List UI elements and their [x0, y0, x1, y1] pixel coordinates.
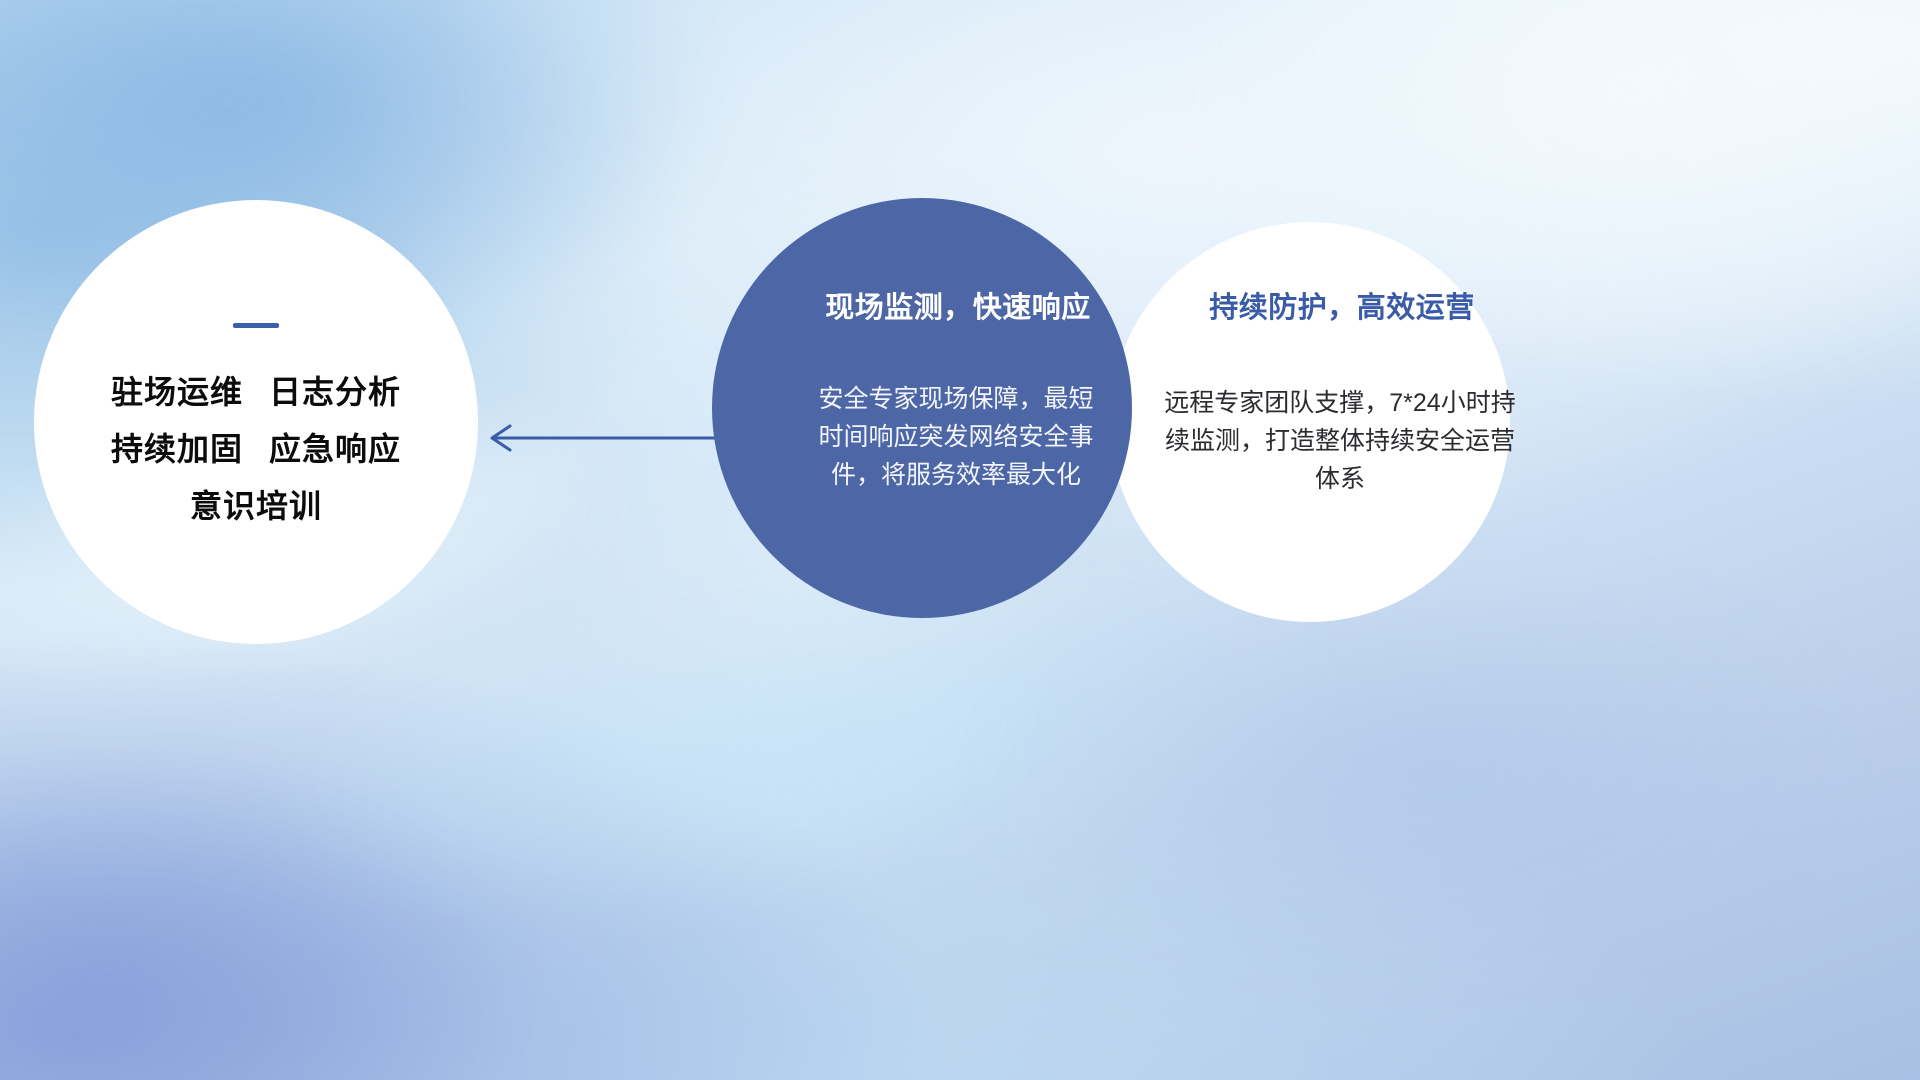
- slide-canvas: 驻场运维日志分析 持续加固应急响应 意识培训 现场监测，快速响应 安全专家现场保…: [0, 0, 1920, 1080]
- capability-label: 驻场运维: [111, 374, 243, 410]
- capability-label: 应急响应: [269, 431, 401, 467]
- capability-label: 日志分析: [269, 374, 401, 410]
- arrow-left-icon: [480, 418, 740, 458]
- right-circle-title: 持续防护，高效运营: [1209, 284, 1475, 326]
- divider-dash: [233, 323, 279, 328]
- left-circle-card[interactable]: 驻场运维日志分析 持续加固应急响应 意识培训: [34, 200, 478, 644]
- capability-label: 意识培训: [190, 488, 322, 524]
- middle-circle-body: 安全专家现场保障，最短时间响应突发网络安全事件，将服务效率最大化: [816, 380, 1096, 494]
- right-circle-body: 远程专家团队支撑，7*24小时持续监测，打造整体持续安全运营体系: [1162, 384, 1518, 498]
- list-item: 持续加固应急响应: [111, 433, 401, 465]
- list-item: 驻场运维日志分析: [111, 376, 401, 408]
- middle-circle-content: 现场监测，快速响应 安全专家现场保障，最短时间响应突发网络安全事件，将服务效率最…: [712, 198, 1132, 618]
- list-item: 意识培训: [190, 490, 322, 522]
- middle-circle-title: 现场监测，快速响应: [825, 284, 1091, 326]
- capability-label: 持续加固: [111, 431, 243, 467]
- right-circle-content: 持续防护，高效运营 远程专家团队支撑，7*24小时持续监测，打造整体持续安全运营…: [1110, 222, 1510, 622]
- capability-list: 驻场运维日志分析 持续加固应急响应 意识培训: [111, 376, 401, 522]
